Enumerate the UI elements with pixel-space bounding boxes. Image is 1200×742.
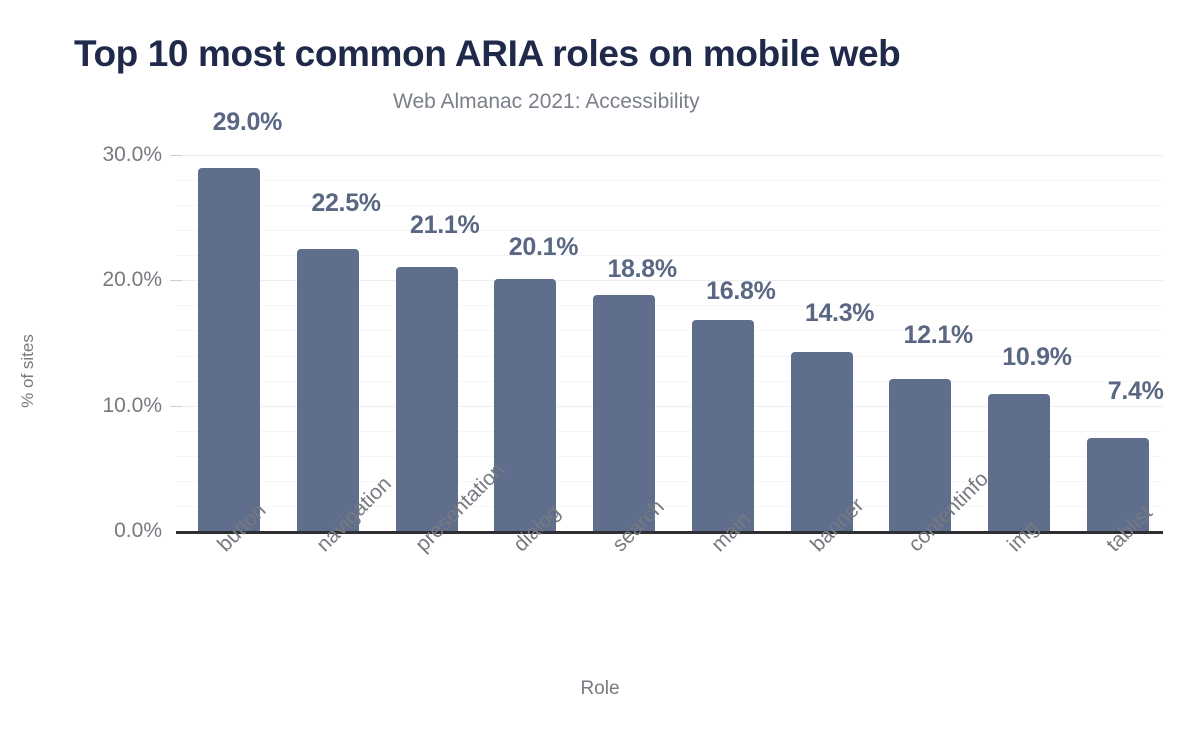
bar-value-label: 22.5% — [311, 189, 380, 218]
x-axis-ticks: buttonnavigationpresentationdialogsearch… — [176, 540, 1163, 680]
bar-value-label: 20.1% — [509, 233, 578, 262]
y-tick-label: 10.0% — [78, 394, 162, 418]
y-tick-label: 0.0% — [78, 519, 162, 543]
x-axis-title: Role — [0, 678, 1200, 700]
chart-figure: Top 10 most common ARIA roles on mobile … — [0, 0, 1200, 742]
bar-value-label: 7.4% — [1108, 377, 1164, 406]
bar-value-label: 10.9% — [1002, 343, 1071, 372]
bar-value-label: 29.0% — [213, 108, 282, 137]
bar-value-label: 18.8% — [607, 255, 676, 284]
y-axis-title: % of sites — [18, 334, 38, 408]
bar-value-label: 21.1% — [410, 211, 479, 240]
y-axis-ticks: 0.0%10.0%20.0%30.0% — [78, 0, 162, 742]
bar-value-label: 12.1% — [904, 321, 973, 350]
bar-value-label: 14.3% — [805, 299, 874, 328]
bar-value-label: 16.8% — [706, 277, 775, 306]
y-tick-label: 30.0% — [78, 143, 162, 167]
y-tick-label: 20.0% — [78, 268, 162, 292]
